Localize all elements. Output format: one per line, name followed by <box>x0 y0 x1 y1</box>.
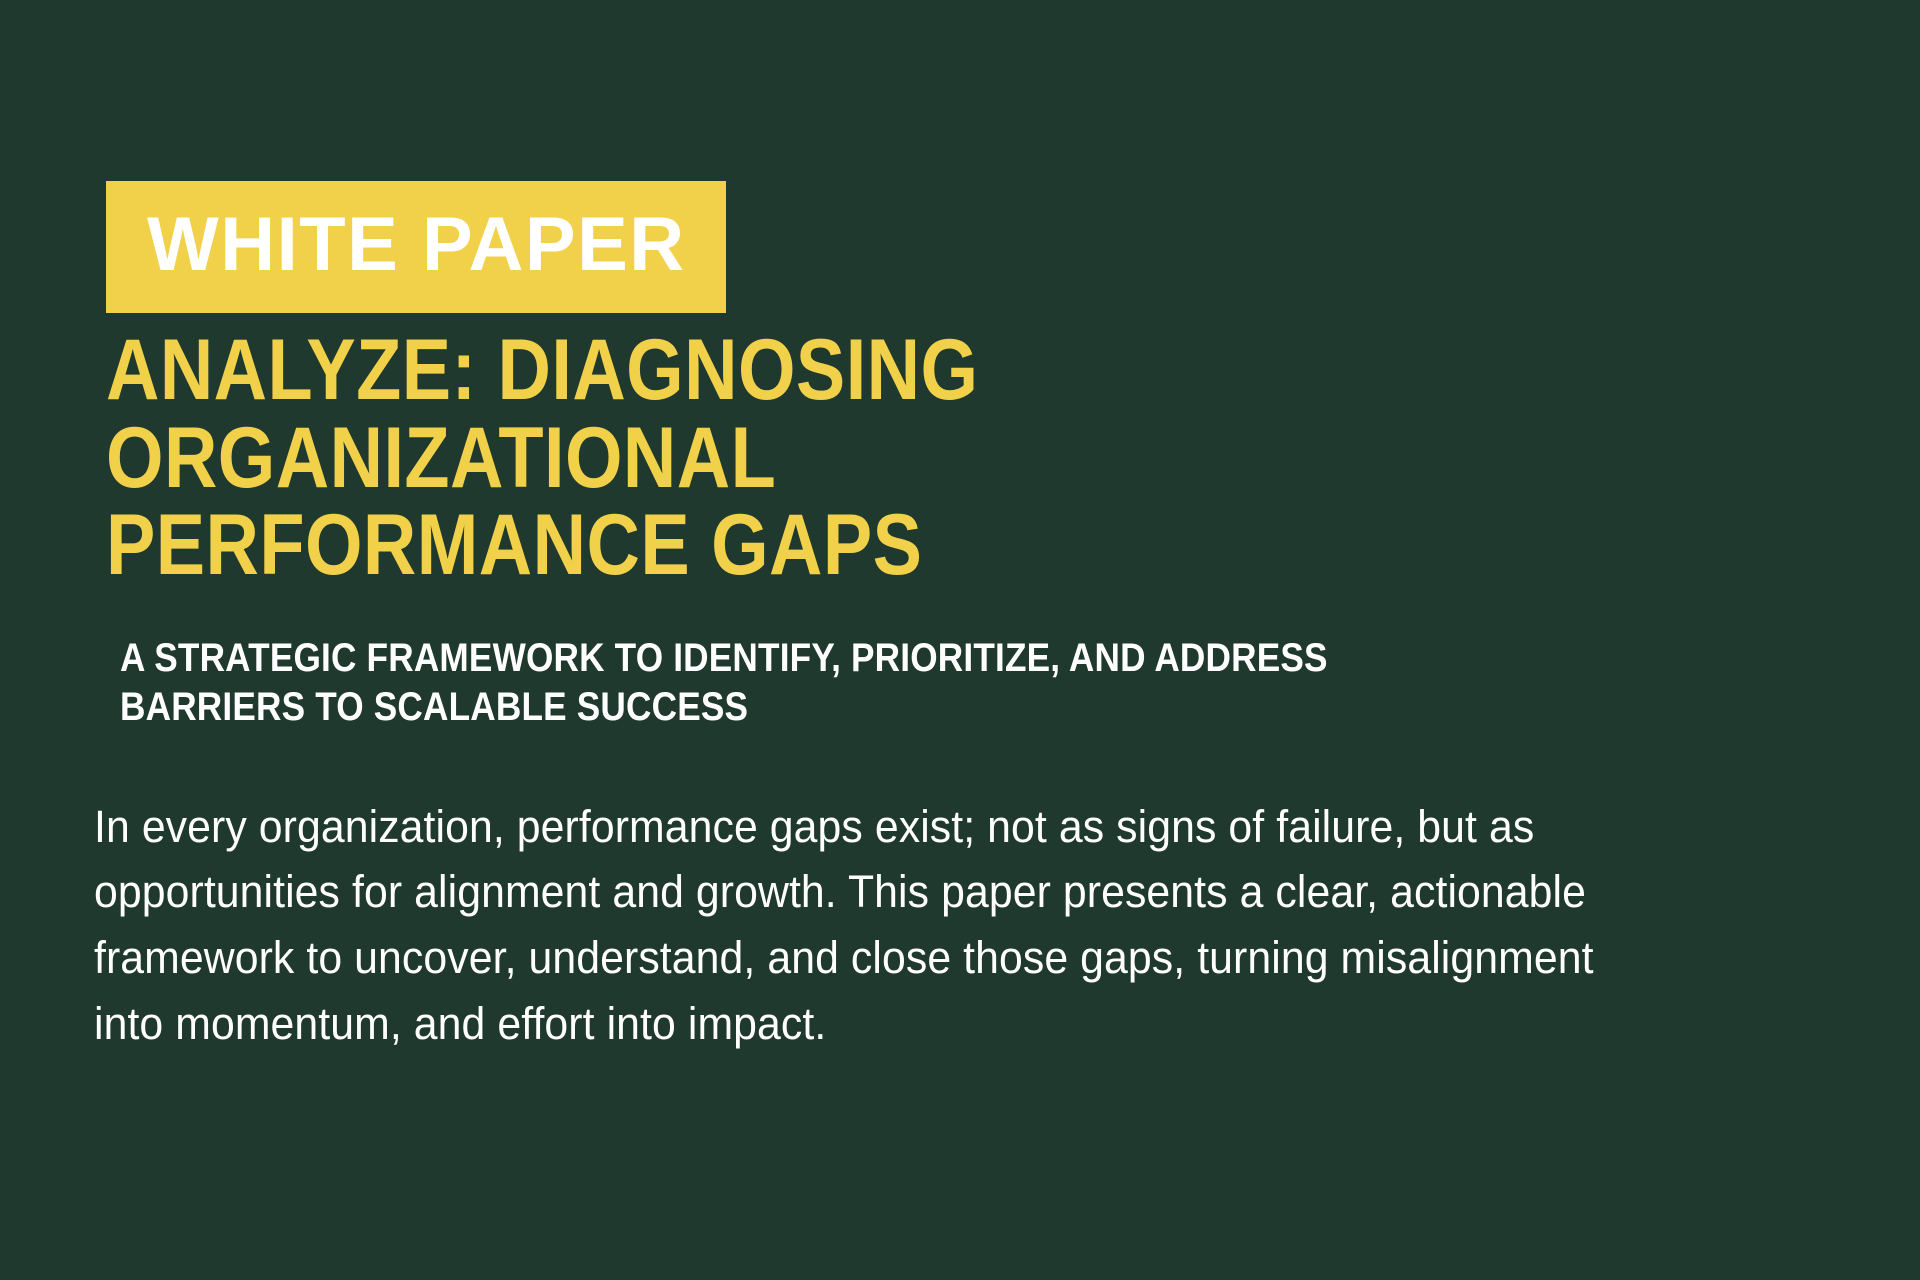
abstract-line-1: In every organization, performance gaps … <box>94 794 1833 860</box>
page-subtitle-line-2: BARRIERS TO SCALABLE SUCCESS <box>120 683 1792 732</box>
abstract-line-3: framework to uncover, understand, and cl… <box>94 925 1833 991</box>
abstract-paragraph: In every organization, performance gaps … <box>94 794 1833 1057</box>
page-title: ANALYZE: DIAGNOSING ORGANIZATIONAL PERFO… <box>106 327 1817 590</box>
abstract-line-2: opportunities for alignment and growth. … <box>94 859 1833 925</box>
document-type-badge: WHITE PAPER <box>106 181 726 313</box>
page-title-line-1: ANALYZE: DIAGNOSING <box>106 327 1817 415</box>
page-title-line-2: ORGANIZATIONAL <box>106 415 1817 503</box>
abstract-line-4: into momentum, and effort into impact. <box>94 991 1833 1057</box>
cover-content-block: WHITE PAPER ANALYZE: DIAGNOSING ORGANIZA… <box>106 181 1826 1057</box>
white-paper-cover-page: WHITE PAPER ANALYZE: DIAGNOSING ORGANIZA… <box>0 0 1920 1280</box>
document-type-badge-label: WHITE PAPER <box>147 207 686 283</box>
page-subtitle-line-1: A STRATEGIC FRAMEWORK TO IDENTIFY, PRIOR… <box>120 634 1792 683</box>
page-title-line-3: PERFORMANCE GAPS <box>106 502 1817 590</box>
page-subtitle: A STRATEGIC FRAMEWORK TO IDENTIFY, PRIOR… <box>120 634 1792 732</box>
